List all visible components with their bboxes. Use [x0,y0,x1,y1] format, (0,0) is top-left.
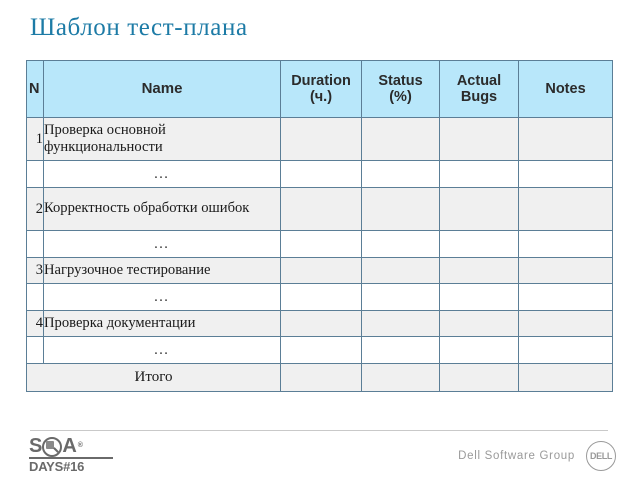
row-status-cell[interactable] [362,337,440,364]
row-number-cell [27,231,44,258]
test-plan-table: N Name Duration (ч.) Status (%) Actual B… [26,60,613,392]
row-status-cell[interactable] [362,258,440,284]
row-number-cell [27,337,44,364]
row-status-cell[interactable] [362,188,440,231]
row-notes-cell[interactable] [519,118,613,161]
row-name-cell[interactable]: Нагрузочное тестирование [44,258,281,284]
row-number-cell: 2 [27,188,44,231]
row-status-cell[interactable] [362,118,440,161]
row-status-cell[interactable] [362,311,440,337]
total-bugs-cell[interactable] [440,364,519,392]
table-total-row[interactable]: Итого [27,364,613,392]
sqa-days-logo-subtext: DAYS#16 [29,460,115,474]
row-status-cell[interactable] [362,231,440,258]
column-header-n[interactable]: N [27,61,44,118]
table-row[interactable]: 3 Нагрузочное тестирование [27,258,613,284]
row-notes-cell[interactable] [519,311,613,337]
table-body: 1 Проверка основной функциональности … 2… [27,118,613,392]
row-duration-cell[interactable] [281,188,362,231]
test-plan-table-container: N Name Duration (ч.) Status (%) Actual B… [26,60,612,392]
row-name-cell[interactable]: … [44,284,281,311]
row-bugs-cell[interactable] [440,258,519,284]
table-row-ellipsis[interactable]: … [27,284,613,311]
sqa-days-logo-wordmark: S A ® [29,435,115,456]
column-header-name[interactable]: Name [44,61,281,118]
table-row[interactable]: 2 Корректность обработки ошибок [27,188,613,231]
row-status-cell[interactable] [362,284,440,311]
column-header-actual-bugs[interactable]: Actual Bugs [440,61,519,118]
footer-divider [30,430,608,431]
total-notes-cell[interactable] [519,364,613,392]
total-duration-cell[interactable] [281,364,362,392]
column-header-notes[interactable]: Notes [519,61,613,118]
row-bugs-cell[interactable] [440,311,519,337]
sqa-logo-letter-a: A [62,436,76,456]
registered-trademark-icon: ® [78,442,83,449]
total-label-cell: Итого [27,364,281,392]
row-number-cell [27,284,44,311]
row-name-cell[interactable]: Корректность обработки ошибок [44,188,281,231]
column-header-status[interactable]: Status (%) [362,61,440,118]
row-bugs-cell[interactable] [440,231,519,258]
row-notes-cell[interactable] [519,188,613,231]
row-bugs-cell[interactable] [440,188,519,231]
table-row-ellipsis[interactable]: … [27,337,613,364]
column-header-status-line1: Status [378,73,422,89]
column-header-actual-bugs-line2: Bugs [461,89,497,105]
row-notes-cell[interactable] [519,161,613,188]
column-header-duration-line1: Duration [291,73,351,89]
row-duration-cell[interactable] [281,161,362,188]
row-notes-cell[interactable] [519,337,613,364]
row-duration-cell[interactable] [281,337,362,364]
sqa-logo-letter-s: S [29,436,42,456]
row-bugs-cell[interactable] [440,284,519,311]
row-number-cell [27,161,44,188]
column-header-duration[interactable]: Duration (ч.) [281,61,362,118]
sqa-days-logo: S A ® DAYS#16 [29,435,115,471]
row-name-cell[interactable]: … [44,337,281,364]
sqa-logo-q-inner-mark [46,441,54,449]
table-row-ellipsis[interactable]: … [27,231,613,258]
row-duration-cell[interactable] [281,231,362,258]
dell-software-group-branding: Dell Software Group DELL [458,441,616,471]
dell-software-group-label: Dell Software Group [458,450,575,462]
row-duration-cell[interactable] [281,258,362,284]
row-name-cell[interactable]: Проверка документации [44,311,281,337]
row-status-cell[interactable] [362,161,440,188]
row-name-cell[interactable]: … [44,161,281,188]
table-header-row: N Name Duration (ч.) Status (%) Actual B… [27,61,613,118]
row-name-cell[interactable]: Проверка основной функциональности [44,118,281,161]
table-row[interactable]: 1 Проверка основной функциональности [27,118,613,161]
column-header-duration-line2: (ч.) [310,89,332,105]
row-duration-cell[interactable] [281,311,362,337]
row-bugs-cell[interactable] [440,337,519,364]
row-notes-cell[interactable] [519,231,613,258]
row-notes-cell[interactable] [519,258,613,284]
row-duration-cell[interactable] [281,118,362,161]
column-header-actual-bugs-line1: Actual [457,73,501,89]
table-header: N Name Duration (ч.) Status (%) Actual B… [27,61,613,118]
row-duration-cell[interactable] [281,284,362,311]
row-name-cell[interactable]: … [44,231,281,258]
table-row-ellipsis[interactable]: … [27,161,613,188]
table-row[interactable]: 4 Проверка документации [27,311,613,337]
row-bugs-cell[interactable] [440,118,519,161]
sqa-logo-q-icon [42,437,62,457]
total-status-cell[interactable] [362,364,440,392]
row-number-cell: 3 [27,258,44,284]
row-bugs-cell[interactable] [440,161,519,188]
page-title: Шаблон тест-плана [30,14,248,42]
column-header-status-line2: (%) [389,89,412,105]
row-number-cell: 4 [27,311,44,337]
dell-logo-icon: DELL [586,441,616,471]
row-number-cell: 1 [27,118,44,161]
row-notes-cell[interactable] [519,284,613,311]
